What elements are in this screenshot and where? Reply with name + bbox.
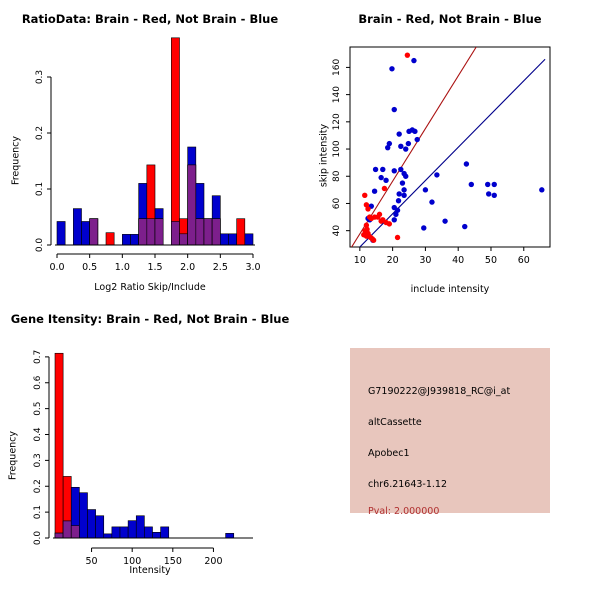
scatter-point: [377, 212, 382, 217]
ratio-x-tick-label: 0.0: [49, 262, 64, 273]
scatter-point: [395, 235, 400, 240]
gene-bar-not-brain: [104, 534, 112, 538]
figure-canvas: RatioData: Brain - Red, Not Brain - Blue…: [0, 0, 600, 600]
gene-bar-brain: [55, 353, 63, 538]
scatter-point: [365, 206, 370, 211]
gene-bar-overlap: [55, 533, 63, 538]
gene-bar-not-brain: [144, 527, 152, 538]
gene-y-tick-label: 0.2: [33, 479, 43, 493]
scatter-point: [383, 178, 388, 183]
ratio-x-tick-label: 1.5: [147, 262, 162, 273]
ratio-bar-overlap: [212, 219, 220, 245]
ratio-bar-brain: [237, 219, 245, 245]
gene-y-tick-label: 0.5: [33, 401, 43, 415]
gene-y-tick-label: 0.3: [33, 453, 43, 467]
scatter-point: [469, 182, 474, 187]
ratio-y-tick-label: 0.0: [35, 238, 45, 253]
gene-bar-not-brain: [112, 527, 120, 538]
scatter-point: [362, 193, 367, 198]
ratio-bar-not-brain: [82, 221, 90, 245]
scatter-point: [393, 212, 398, 217]
scatter-point: [406, 141, 411, 146]
gene-y-tick-label: 0.0: [33, 531, 43, 546]
scatter-point: [380, 167, 385, 172]
scatter-point: [434, 172, 439, 177]
scatter-y-tick-label: 100: [332, 140, 342, 157]
gene-y-tick-label: 0.4: [33, 427, 43, 442]
ratio-bar-not-brain: [57, 221, 65, 245]
ratio-bar-not-brain: [131, 234, 139, 245]
gene-x-tick-label: 200: [204, 556, 222, 567]
gene-x-tick-label: 150: [164, 556, 182, 567]
scatter-x-tick-label: 20: [387, 255, 399, 266]
gene-x-tick-label: 100: [123, 556, 141, 567]
scatter-point: [421, 225, 426, 230]
scatter-point: [415, 137, 420, 142]
ratio-bar-overlap: [196, 219, 204, 245]
scatter-y-tick-label: 160: [332, 59, 342, 76]
ratio-x-tick-label: 0.5: [82, 262, 97, 273]
gene-bar-overlap: [71, 526, 79, 538]
ratio-x-tick-label: 1.0: [115, 262, 130, 273]
panel-ratio-histogram: RatioData: Brain - Red, Not Brain - Blue…: [0, 0, 300, 300]
ratio-bar-overlap: [90, 219, 98, 245]
scatter-point: [401, 187, 406, 192]
scatter-point: [442, 218, 447, 223]
scatter-content: [352, 47, 545, 247]
ratio-y-tick-label: 0.3: [35, 70, 45, 84]
ratio-bar-not-brain: [229, 234, 237, 245]
scatter-fit-line-not-brain-fit: [360, 59, 545, 247]
scatter-point: [387, 221, 392, 226]
ratio-bar-overlap: [171, 221, 179, 245]
gene-bar-not-brain: [226, 533, 234, 538]
ratio-hist-plot: 0.00.10.20.30.00.51.01.52.02.53.0: [0, 0, 300, 300]
scatter-point: [405, 52, 410, 57]
gene-info-box: G7190222@J939818_RC@i_at altCassette Apo…: [350, 348, 550, 513]
scatter-point: [403, 146, 408, 151]
scatter-point: [389, 66, 394, 71]
scatter-point: [373, 167, 378, 172]
scatter-point: [398, 144, 403, 149]
scatter-point: [392, 107, 397, 112]
scatter-point: [400, 180, 405, 185]
ratio-bar-overlap: [204, 219, 212, 245]
scatter-x-tick-label: 60: [518, 255, 530, 266]
scatter-point: [486, 191, 491, 196]
gene-bar-overlap: [63, 521, 71, 538]
scatter-point: [396, 198, 401, 203]
scatter-y-tick-label: 40: [332, 225, 342, 237]
scatter-x-tick-label: 10: [354, 255, 366, 266]
scatter-point: [411, 58, 416, 63]
ratio-bar-not-brain: [220, 234, 228, 245]
scatter-point: [462, 224, 467, 229]
scatter-point: [378, 175, 383, 180]
info-line-pvalue: Pval: 2.000000: [368, 506, 439, 517]
scatter-x-tick-label: 30: [419, 255, 431, 266]
ratio-bar-brain: [171, 38, 179, 245]
scatter-point: [464, 161, 469, 166]
scatter-point: [492, 182, 497, 187]
gene-bar-not-brain: [96, 516, 104, 538]
panel-gene-histogram: Gene Itensity: Brain - Red, Not Brain - …: [0, 300, 300, 600]
ratio-bar-brain: [106, 233, 114, 245]
ratio-bar-not-brain: [245, 234, 253, 245]
scatter-y-tick-label: 60: [332, 197, 342, 209]
gene-bar-not-brain: [136, 516, 144, 538]
gene-hist-bars: [55, 353, 234, 538]
ratio-x-tick-label: 3.0: [245, 262, 260, 273]
scatter-y-tick-label: 140: [332, 86, 342, 103]
scatter-point: [371, 237, 376, 242]
scatter-point: [429, 199, 434, 204]
ratio-bar-overlap: [188, 165, 196, 245]
panel-intensity-scatter: Brain - Red, Not Brain - Blue skip inten…: [300, 0, 600, 300]
ratio-x-tick-label: 2.0: [180, 262, 195, 273]
scatter-y-tick-label: 80: [332, 170, 342, 182]
gene-y-tick-label: 0.6: [33, 375, 43, 390]
gene-bar-not-brain: [79, 493, 87, 538]
scatter-point: [412, 129, 417, 134]
scatter-y-tick-label: 120: [332, 113, 342, 130]
ratio-y-tick-label: 0.1: [35, 182, 45, 196]
ratio-y-tick-label: 0.2: [35, 126, 45, 140]
scatter-x-tick-label: 40: [452, 255, 464, 266]
scatter-point: [485, 182, 490, 187]
scatter-plot: 406080100120140160102030405060: [300, 0, 600, 300]
ratio-bar-not-brain: [73, 209, 81, 245]
scatter-point: [392, 168, 397, 173]
gene-hist-plot: 0.00.10.20.30.40.50.60.750100150200: [0, 300, 300, 600]
info-line-locus: chr6.21643-1.12: [368, 479, 447, 490]
scatter-point: [403, 174, 408, 179]
scatter-point: [396, 191, 401, 196]
ratio-bar-overlap: [180, 234, 188, 245]
ratio-bar-not-brain: [122, 234, 130, 245]
gene-y-tick-label: 0.7: [33, 350, 43, 364]
gene-bar-not-brain: [88, 510, 96, 538]
gene-bar-not-brain: [153, 532, 161, 538]
ratio-bar-overlap: [139, 219, 147, 245]
info-line-probeset: G7190222@J939818_RC@i_at: [368, 386, 510, 397]
scatter-point: [396, 131, 401, 136]
scatter-point: [372, 189, 377, 194]
scatter-point: [382, 186, 387, 191]
ratio-x-tick-label: 2.5: [213, 262, 228, 273]
scatter-point: [423, 187, 428, 192]
ratio-bar-overlap: [155, 219, 163, 245]
scatter-point: [362, 228, 367, 233]
ratio-bar-overlap: [147, 219, 155, 245]
gene-x-tick-label: 50: [86, 556, 98, 567]
panel-gene-info: G7190222@J939818_RC@i_at altCassette Apo…: [300, 300, 600, 600]
scatter-point: [392, 217, 397, 222]
scatter-point: [387, 141, 392, 146]
scatter-point: [401, 193, 406, 198]
gene-bar-not-brain: [128, 521, 136, 538]
gene-bar-not-brain: [161, 527, 169, 538]
gene-bar-not-brain: [120, 527, 128, 538]
gene-y-tick-label: 0.1: [33, 505, 43, 519]
info-line-gene-symbol: Apobec1: [368, 448, 409, 459]
ratio-hist-bars: [57, 38, 253, 245]
info-line-event-type: altCassette: [368, 417, 422, 428]
scatter-x-tick-label: 50: [485, 255, 497, 266]
scatter-point: [492, 193, 497, 198]
scatter-point: [539, 187, 544, 192]
